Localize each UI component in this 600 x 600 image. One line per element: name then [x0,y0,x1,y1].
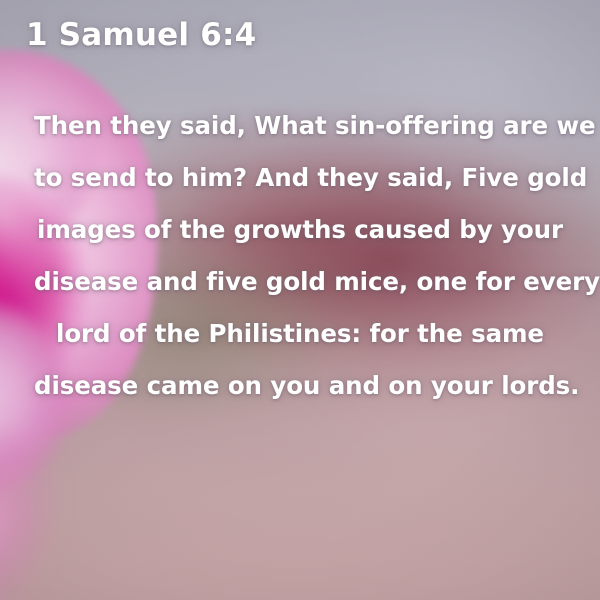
verse-body: Then they said, What sin-offering are we… [34,100,566,412]
verse-reference-title: 1 Samuel 6:4 [26,15,256,55]
verse-line: to send to him? And they said, Five gold [34,152,566,204]
verse-line: disease came on you and on your lords. [34,360,566,412]
verse-line: Then they said, What sin-offering are we [34,100,566,152]
verse-line: disease and five gold mice, one for ever… [34,256,566,308]
text-overlay: 1 Samuel 6:4 Then they said, What sin-of… [0,0,600,600]
verse-line: lord of the Philistines: for the same [34,308,566,360]
verse-line: images of the growths caused by your [34,204,566,256]
scripture-verse-card: 1 Samuel 6:4 Then they said, What sin-of… [0,0,600,600]
